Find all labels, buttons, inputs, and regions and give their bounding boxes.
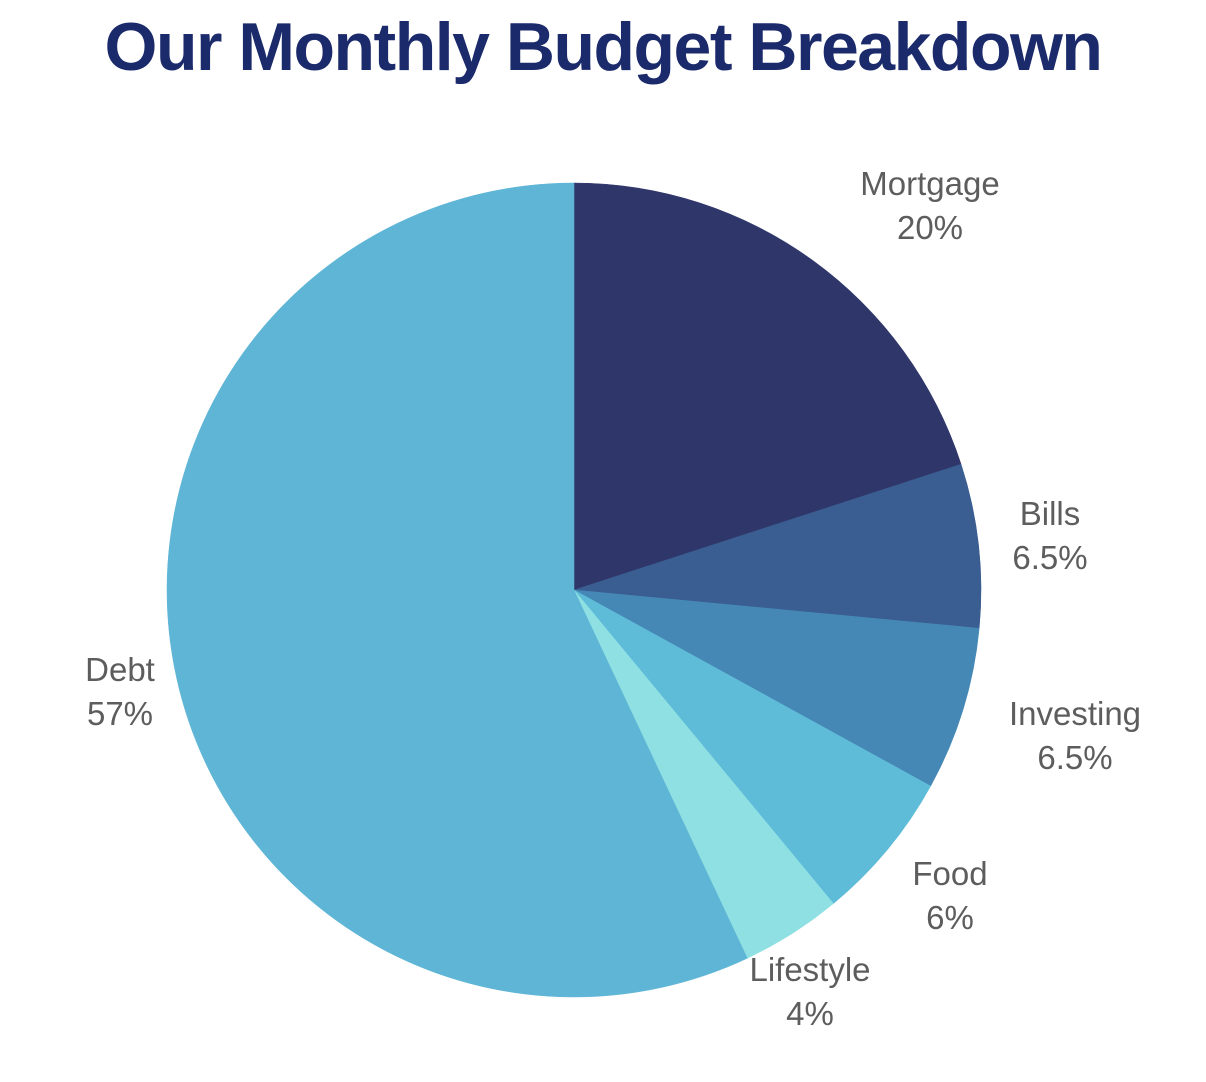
slice-label-investing: Investing 6.5% — [950, 692, 1200, 779]
slice-label-food-value: 6% — [830, 896, 1070, 940]
slice-label-bills-value: 6.5% — [930, 536, 1170, 580]
pie-chart: Mortgage 20% Bills 6.5% Investing 6.5% F… — [0, 0, 1206, 1082]
slice-label-mortgage-value: 20% — [790, 206, 1070, 250]
slice-label-lifestyle: Lifestyle 4% — [680, 948, 940, 1035]
slice-label-investing-value: 6.5% — [950, 736, 1200, 780]
slice-label-investing-name: Investing — [950, 692, 1200, 736]
slice-label-lifestyle-name: Lifestyle — [680, 948, 940, 992]
slice-label-debt: Debt 57% — [10, 648, 230, 735]
slice-label-mortgage: Mortgage 20% — [790, 162, 1070, 249]
slice-label-debt-name: Debt — [10, 648, 230, 692]
slice-label-lifestyle-value: 4% — [680, 992, 940, 1036]
slice-label-mortgage-name: Mortgage — [790, 162, 1070, 206]
slice-label-food: Food 6% — [830, 852, 1070, 939]
slice-label-bills-name: Bills — [930, 492, 1170, 536]
slice-label-bills: Bills 6.5% — [930, 492, 1170, 579]
slice-label-debt-value: 57% — [10, 692, 230, 736]
slice-label-food-name: Food — [830, 852, 1070, 896]
